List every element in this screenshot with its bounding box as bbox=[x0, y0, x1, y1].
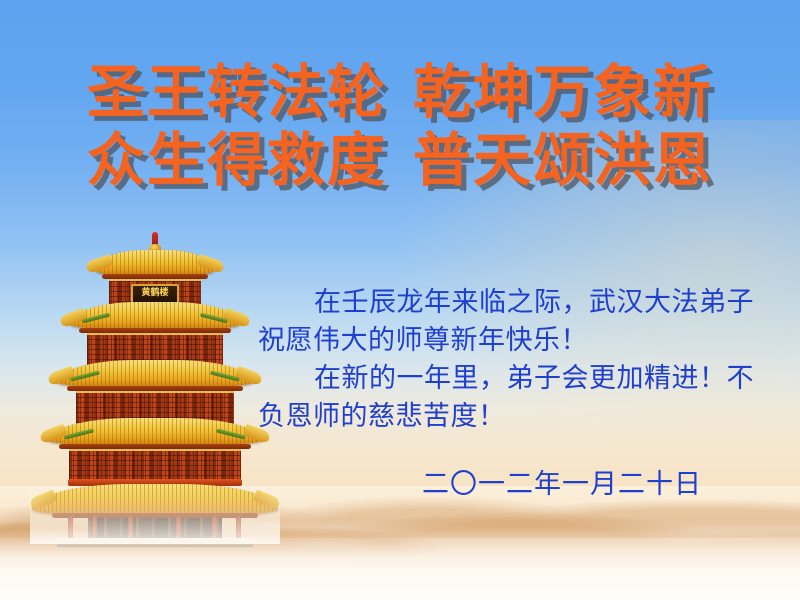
pagoda-plaque-text: 黄鹤楼 bbox=[141, 288, 168, 298]
message-line-4: 负恩师的慈悲苦度！ bbox=[258, 398, 758, 436]
greeting-card-image: 圣王转法轮乾坤万象新 众生得救度普天颂洪恩 黄鹤楼 bbox=[0, 0, 800, 600]
headline-line-1-left: 圣王转法轮 bbox=[87, 58, 387, 126]
message-line-1: 在壬辰龙年来临之际，武汉大法弟子 bbox=[258, 284, 758, 322]
headline-line-2-left: 众生得救度 bbox=[87, 126, 387, 194]
pagoda-base-platform bbox=[57, 538, 253, 547]
headline-line-2: 众生得救度普天颂洪恩 bbox=[0, 126, 800, 194]
greeting-message: 在壬辰龙年来临之际，武汉大法弟子 祝愿伟大的师尊新年快乐！ 在新的一年里，弟子会… bbox=[258, 284, 758, 436]
headline-line-1: 圣王转法轮乾坤万象新 bbox=[0, 58, 800, 126]
pagoda-roof-tier-1 bbox=[96, 250, 214, 276]
pagoda-body-tier-4 bbox=[69, 449, 241, 483]
headline-couplet: 圣王转法轮乾坤万象新 众生得救度普天颂洪恩 bbox=[0, 58, 800, 194]
yellow-crane-tower-pagoda: 黄鹤楼 bbox=[30, 232, 280, 532]
pagoda-roof-tier-5 bbox=[32, 484, 278, 516]
headline-line-2-right: 普天颂洪恩 bbox=[413, 126, 713, 194]
pagoda-lattice bbox=[69, 451, 241, 481]
headline-line-1-right: 乾坤万象新 bbox=[413, 58, 713, 126]
message-line-2: 祝愿伟大的师尊新年快乐！ bbox=[258, 322, 758, 360]
message-line-3: 在新的一年里，弟子会更加精进！不 bbox=[258, 360, 758, 398]
pagoda-ground-doors bbox=[88, 518, 222, 540]
message-date: 二〇一二年一月二十日 bbox=[258, 462, 750, 501]
